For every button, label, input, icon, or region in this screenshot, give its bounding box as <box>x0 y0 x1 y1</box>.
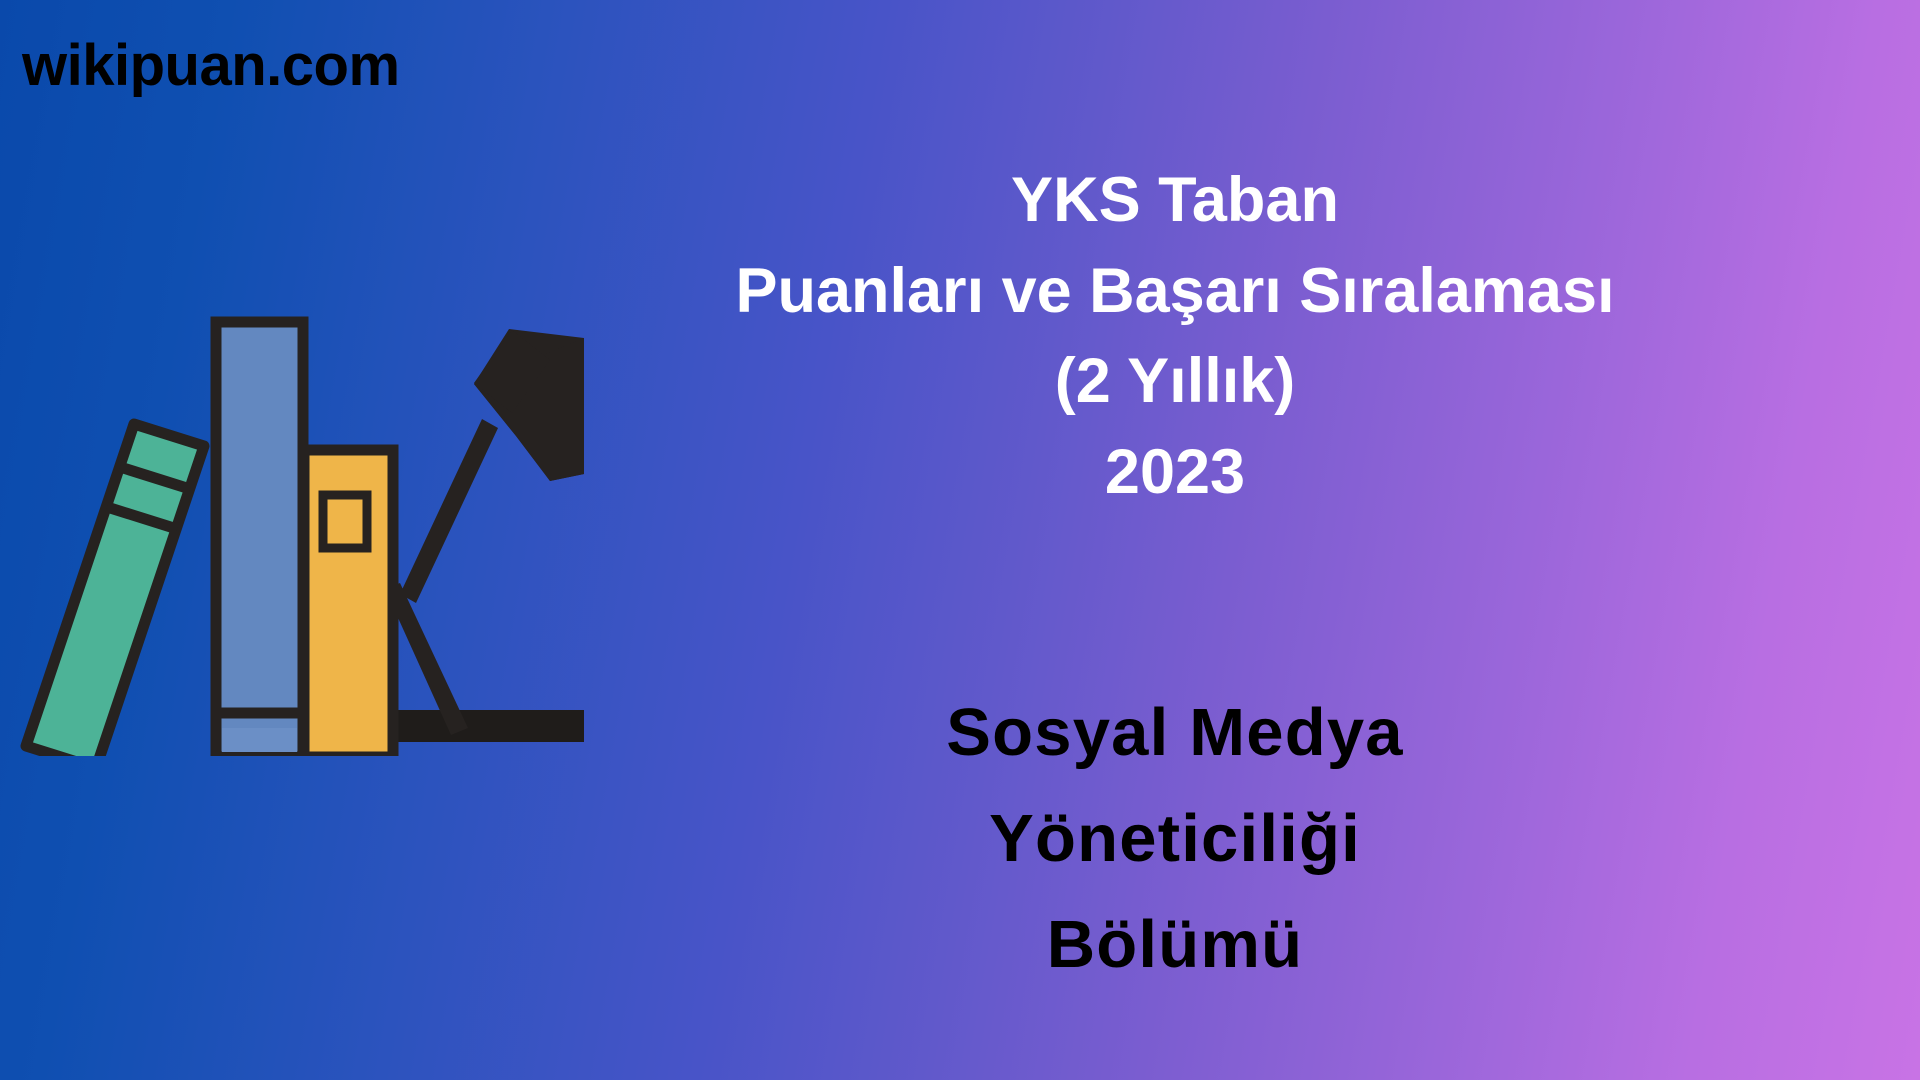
page-title-line-3: (2 Yıllık) <box>470 336 1880 427</box>
page-title: YKS Taban Puanları ve Başarı Sıralaması … <box>470 155 1880 518</box>
teal-book <box>26 424 204 756</box>
yellow-book-label-square <box>323 495 367 548</box>
yellow-book <box>304 450 393 756</box>
watermark-site-name: wikipuan.com <box>22 36 400 97</box>
page-title-line-1: YKS Taban <box>470 155 1880 246</box>
blue-book-cover <box>216 322 303 756</box>
page-subtitle: Sosyal Medya Yöneticiliği Bölümü <box>470 680 1880 998</box>
blue-book <box>216 322 303 756</box>
page-subtitle-line-2: Yöneticiliği <box>470 786 1880 892</box>
page-subtitle-line-3: Bölümü <box>470 892 1880 998</box>
page-title-line-4-year: 2023 <box>470 427 1880 518</box>
page-subtitle-line-1: Sosyal Medya <box>470 680 1880 786</box>
blue-book-bottom-accent <box>222 728 297 752</box>
page-title-line-2: Puanları ve Başarı Sıralaması <box>470 246 1880 337</box>
teal-book-cover <box>26 424 204 756</box>
